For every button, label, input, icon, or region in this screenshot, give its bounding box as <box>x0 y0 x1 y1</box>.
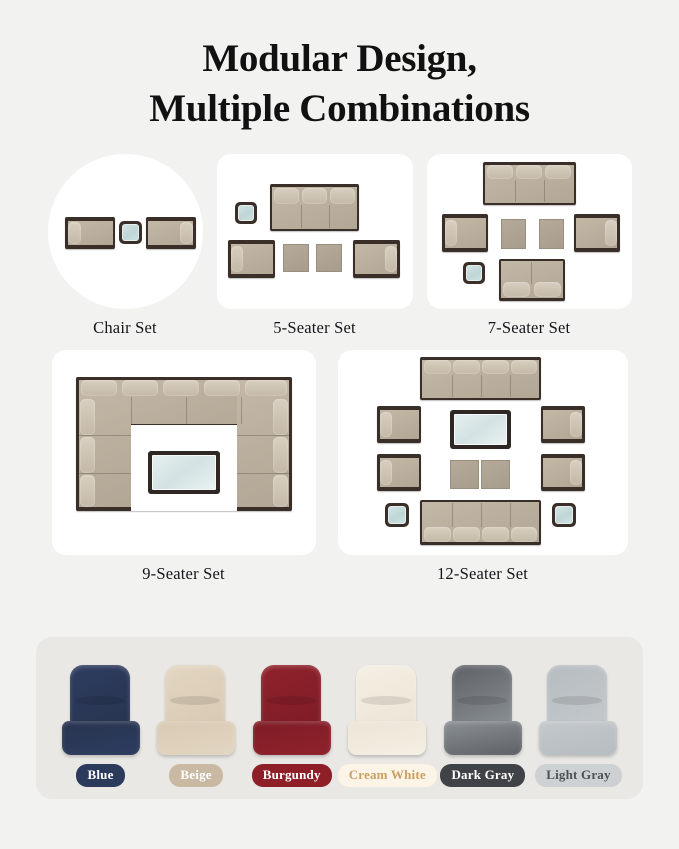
layout-diagram-7-seater-set <box>427 154 632 309</box>
color-swatch-cream-white[interactable]: Cream White <box>341 665 434 787</box>
cushion-seat <box>157 721 235 755</box>
chair-bottom-left <box>228 240 275 278</box>
set-cell-7-seater-set: 7-Seater Set <box>427 154 632 338</box>
color-options-panel: BlueBeigeBurgundyCream WhiteDark GrayLig… <box>36 637 643 799</box>
chair-left-lower <box>377 454 421 491</box>
sets-row-bottom: 9-Seater Set <box>0 350 679 584</box>
color-label: Blue <box>76 764 124 787</box>
chair-right <box>146 217 196 249</box>
set-card-9-seater-set[interactable] <box>52 350 316 555</box>
chair-left <box>65 217 115 249</box>
cushion-crease <box>170 696 220 705</box>
cushion-seat <box>253 721 331 755</box>
color-swatch-dark-gray[interactable]: Dark Gray <box>436 665 529 787</box>
page-title: Modular Design, Multiple Combinations <box>0 0 679 134</box>
cushion-preview <box>154 665 238 757</box>
color-swatch-burgundy[interactable]: Burgundy <box>245 665 338 787</box>
sofa-two-seat-bottom <box>499 259 565 301</box>
ottoman-left <box>450 460 479 489</box>
sofa-three-seat-top <box>483 162 576 205</box>
ottoman-left <box>501 219 526 249</box>
set-card-12-seater-set[interactable] <box>338 350 628 555</box>
chair-right-lower <box>541 454 585 491</box>
coffee-table <box>450 410 511 449</box>
sofa-four-seat-top <box>420 357 541 400</box>
cushion-preview <box>345 665 429 757</box>
cushion-crease <box>75 696 125 705</box>
color-label: Beige <box>169 764 222 787</box>
set-caption-5-seater-set: 5-Seater Set <box>273 318 356 338</box>
cushion-preview <box>536 665 620 757</box>
cushion-preview <box>441 665 525 757</box>
set-card-chair-set[interactable] <box>48 154 203 309</box>
sets-row-top: Chair Set <box>0 154 679 338</box>
color-swatch-light-gray[interactable]: Light Gray <box>532 665 625 787</box>
set-cell-chair-set: Chair Set <box>48 154 203 338</box>
side-table-bottom-right <box>552 503 576 527</box>
set-card-5-seater-set[interactable] <box>217 154 413 309</box>
side-table-center <box>119 221 142 244</box>
ottoman-right <box>539 219 564 249</box>
cushion-crease <box>361 696 411 705</box>
cushion-seat <box>62 721 140 755</box>
color-label: Dark Gray <box>440 764 525 787</box>
color-label: Burgundy <box>252 764 332 787</box>
color-label: Cream White <box>338 764 437 787</box>
cushion-seat <box>348 721 426 755</box>
layout-diagram-chair-set <box>48 154 203 309</box>
set-caption-9-seater-set: 9-Seater Set <box>142 564 225 584</box>
set-cell-9-seater-set: 9-Seater Set <box>52 350 316 584</box>
cushion-crease <box>266 696 316 705</box>
title-line-2: Multiple Combinations <box>0 84 679 134</box>
layout-diagram-5-seater-set <box>217 154 413 309</box>
side-table-top-left <box>235 202 257 224</box>
cushion-crease <box>457 696 507 705</box>
color-swatch-blue[interactable]: Blue <box>54 665 147 787</box>
cushion-seat <box>444 721 522 755</box>
sofa-three-seat <box>270 184 359 231</box>
cushion-seat <box>539 721 617 755</box>
color-swatch-row: BlueBeigeBurgundyCream WhiteDark GrayLig… <box>36 637 643 799</box>
ottoman-left <box>283 244 309 272</box>
cushion-preview <box>59 665 143 757</box>
layout-diagram-9-seater-set <box>52 350 316 555</box>
chair-bottom-right <box>353 240 400 278</box>
color-label: Light Gray <box>535 764 621 787</box>
ottoman-right <box>316 244 342 272</box>
set-cell-5-seater-set: 5-Seater Set <box>217 154 413 338</box>
chair-left-upper <box>377 406 421 443</box>
side-table-bottom-left <box>463 262 485 284</box>
color-swatch-beige[interactable]: Beige <box>150 665 243 787</box>
coffee-table <box>148 451 220 494</box>
cushion-preview <box>250 665 334 757</box>
side-table-bottom-left <box>385 503 409 527</box>
set-caption-12-seater-set: 12-Seater Set <box>437 564 528 584</box>
set-caption-chair-set: Chair Set <box>93 318 157 338</box>
chair-middle-left <box>442 214 488 252</box>
layout-diagram-12-seater-set <box>338 350 628 555</box>
set-card-7-seater-set[interactable] <box>427 154 632 309</box>
sofa-four-seat-bottom <box>420 500 541 545</box>
title-line-1: Modular Design, <box>0 34 679 84</box>
set-cell-12-seater-set: 12-Seater Set <box>338 350 628 584</box>
chair-middle-right <box>574 214 620 252</box>
ottoman-right <box>481 460 510 489</box>
chair-right-upper <box>541 406 585 443</box>
set-caption-7-seater-set: 7-Seater Set <box>488 318 571 338</box>
